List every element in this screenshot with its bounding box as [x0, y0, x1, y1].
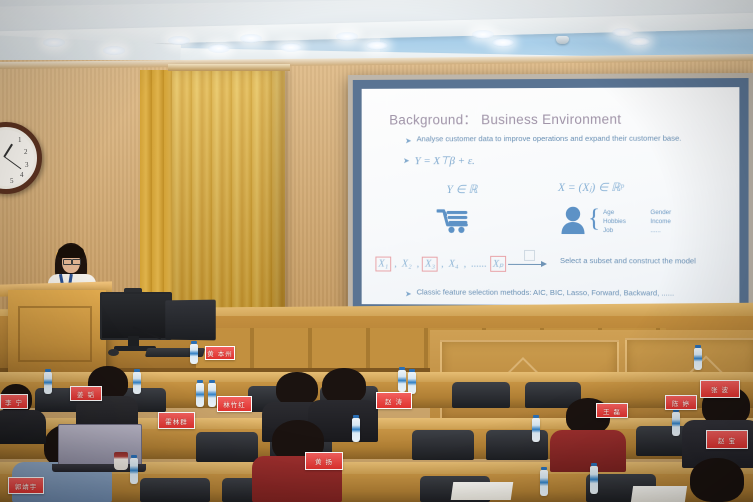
slide-bullet-1: ➤ Analyse customer data to improve opera… [405, 134, 681, 146]
name-placard: 林竹红 [217, 396, 252, 412]
variable-selected: X₃ [422, 257, 438, 272]
name-placard-text: 霍林群 [165, 416, 188, 426]
clock-numeral: 3 [25, 161, 29, 169]
downlight-icon [366, 41, 388, 50]
slide-title: Background： Business Environment [389, 108, 621, 129]
selection-arrow [508, 250, 550, 276]
attribute-item: ...... [650, 227, 671, 236]
name-placard: 王 磊 [596, 403, 628, 418]
bottle-cap [131, 455, 137, 458]
slide-bullet-equation: ➤ Y = X⊤β + ε. [403, 154, 475, 167]
downlight-icon [208, 44, 230, 53]
arrow-shaft [508, 264, 544, 265]
audience-person-body [550, 430, 626, 472]
name-placard-text: 林竹红 [223, 399, 246, 409]
downlight-icon [612, 28, 634, 37]
water-bottle [352, 418, 360, 442]
selection-arrow-label: Select a subset and construct the model [560, 256, 696, 265]
water-bottle [130, 458, 138, 484]
bottle-cap [45, 369, 51, 372]
audience-seat [452, 382, 510, 408]
name-placard: 霍林群 [158, 412, 195, 429]
shopping-cart-icon [437, 208, 471, 234]
variable-item: , [462, 258, 469, 271]
slide-bullet-2-text: Classic feature selection methods: AIC, … [417, 287, 675, 297]
variable-item: ...... [469, 258, 489, 271]
name-placard-text: 姜 韬 [77, 389, 95, 399]
projected-slide: Background： Business Environment ➤ Analy… [362, 87, 740, 306]
downlight-icon [472, 30, 494, 39]
slide-bullet-2: ➤ Classic feature selection methods: AIC… [405, 287, 674, 299]
clock-numeral: 4 [20, 171, 24, 179]
name-placard-text: 王 磊 [603, 406, 621, 416]
arrow-square-marker [524, 250, 535, 261]
bottle-cap [533, 415, 539, 418]
presenter-glasses-left [63, 259, 72, 265]
water-bottle [694, 348, 702, 370]
podium-front-panel [18, 306, 92, 362]
clock-numeral: 5 [10, 177, 14, 185]
name-placard-text: 张 波 [711, 384, 729, 394]
downlight-icon [336, 32, 358, 41]
projection-screen: Background： Business Environment ➤ Analy… [348, 73, 753, 320]
slide-model-equation: Y = X⊤β + ε. [415, 154, 475, 167]
attributes-brace-icon: { [588, 206, 600, 231]
name-placard-text: 黄 扬 [315, 456, 333, 466]
audience-person-body [0, 410, 46, 444]
water-bottle [190, 344, 198, 364]
name-placard-text: 黄 本州 [207, 348, 233, 358]
variable-item: X₄ [447, 258, 461, 271]
projection-screen-inner-border: Background： Business Environment ➤ Analy… [353, 78, 749, 315]
audience-seat [140, 478, 210, 502]
audience-person-head [322, 368, 366, 404]
bottle-cap [134, 369, 140, 372]
variable-selected: Xₚ [490, 256, 507, 272]
bottle-cap [409, 369, 415, 372]
bottle-cap [541, 467, 547, 470]
bottle-cap [695, 345, 701, 348]
presenter-hair-fringe [58, 245, 84, 258]
bottle-cap [399, 367, 405, 370]
name-placard: 黄 扬 [305, 452, 343, 470]
audience-person-head [690, 458, 744, 502]
attribute-item: Gender [650, 209, 671, 218]
water-bottle [590, 466, 598, 494]
papers-on-desk [631, 486, 687, 502]
water-bottle [208, 383, 216, 407]
papers-on-desk [451, 482, 514, 500]
coffee-cup [114, 452, 128, 470]
response-space-formula: Y ∈ ℝ [447, 182, 478, 196]
name-placard-text: 郭靖宇 [15, 481, 38, 491]
stage-mouse [108, 349, 119, 356]
bottle-cap [191, 341, 197, 344]
water-bottle [133, 372, 141, 394]
water-bottle [532, 418, 540, 442]
audience-seat [412, 430, 474, 460]
attribute-column-right: Gender Income ...... [650, 209, 671, 236]
attribute-item: Age [603, 209, 626, 218]
water-bottle [540, 470, 548, 496]
clock-hour-hand [3, 144, 12, 158]
name-placard-text: 李 宁 [5, 397, 23, 407]
variable-list: X₁,X₂,X₃,X₄,......Xₚ [375, 256, 506, 272]
water-bottle [408, 372, 416, 394]
name-placard: 张 波 [700, 380, 740, 398]
downlight-icon [628, 37, 650, 46]
downlight-icon [280, 43, 302, 52]
bottle-cap [197, 380, 203, 383]
predictor-space-formula: X = (Xⱼ) ∈ ℝᵖ [558, 180, 624, 194]
name-placard-text: 赵 宝 [718, 435, 736, 445]
downlight-icon [103, 46, 125, 55]
name-placard-text: 陈 婷 [672, 398, 690, 408]
name-placard: 郭靖宇 [8, 477, 44, 494]
name-placard: 姜 韬 [70, 386, 102, 401]
name-placard: 赵 涛 [376, 392, 412, 409]
attribute-item: Income [650, 218, 671, 227]
audience-seat [196, 432, 258, 462]
name-placard: 李 宁 [0, 394, 28, 409]
audience-person-head [276, 372, 318, 406]
clock-numeral: 1 [18, 136, 22, 144]
water-bottle [44, 372, 52, 394]
bottle-cap [591, 463, 597, 466]
curtain-rod [168, 64, 290, 71]
bullet-arrow-icon: ➤ [403, 157, 410, 165]
bottle-cap [353, 415, 359, 418]
downlight-icon [43, 38, 65, 47]
conference-room-photo: 1 2 3 4 5 Background： Business Environme… [0, 0, 753, 502]
attribute-item: Job [603, 227, 626, 236]
clock-numeral: 2 [24, 148, 28, 156]
customer-person-icon [560, 206, 586, 234]
downlight-icon [168, 36, 190, 45]
variable-selected: X₁ [375, 257, 391, 272]
bottle-cap [209, 380, 215, 383]
stage-monitor [100, 292, 172, 340]
bullet-arrow-icon: ➤ [405, 290, 412, 298]
name-placard: 陈 婷 [665, 395, 697, 410]
arrow-head [541, 261, 547, 267]
clock-face: 1 2 3 4 5 [0, 130, 34, 186]
attribute-column-left: Age Hobbies Job [603, 209, 626, 236]
water-bottle [398, 370, 406, 392]
variable-item: , [415, 258, 422, 271]
name-placard: 黄 本州 [205, 346, 235, 360]
water-bottle [672, 412, 680, 436]
slide-bullet-1-text: Analyse customer data to improve operati… [417, 134, 682, 144]
variable-item: X₂ [400, 258, 414, 271]
downlight-icon [240, 34, 262, 43]
clock-minute-hand [4, 156, 22, 169]
variable-item: , [439, 258, 446, 271]
bullet-arrow-icon: ➤ [405, 137, 412, 145]
attribute-item: Hobbies [603, 218, 626, 227]
smoke-detector-icon [556, 36, 569, 44]
stage-laptop [165, 300, 215, 341]
name-placard-text: 赵 涛 [385, 396, 403, 406]
presenter-glasses-right [72, 259, 81, 265]
name-placard: 赵 宝 [706, 430, 748, 449]
water-bottle [196, 383, 204, 407]
variable-item: , [392, 258, 399, 271]
downlight-icon [492, 38, 514, 47]
